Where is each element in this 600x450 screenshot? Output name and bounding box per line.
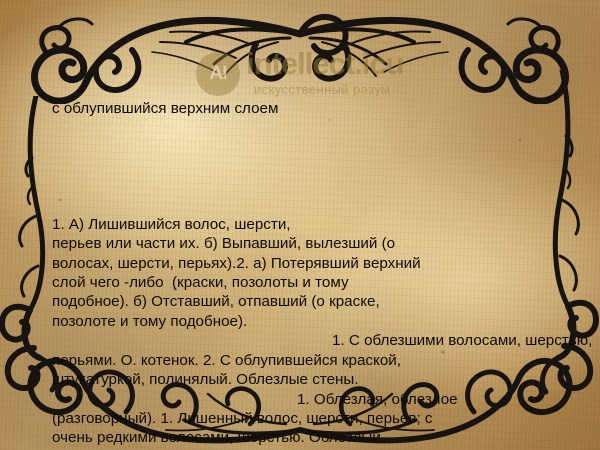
definition-line: (разговорный). 1. Лишенный волос, шерсти… <box>52 409 598 428</box>
definition-line: 1. А) Лишившийся волос, шерсти, <box>52 215 598 234</box>
definition-line: слой чего -либо (краски, позолоты и тому <box>52 273 598 292</box>
definition-line: перьями. О. котенок. 2. С облупившейся к… <box>52 351 598 370</box>
paragraph-gap <box>52 157 598 176</box>
page-title: с облупившийся верхним слоем <box>52 99 598 118</box>
definition-line: штукатуркой, полинялый. Облезлые стены. <box>52 370 598 389</box>
dictionary-text-block: с облупившийся верхним слоем 1. А) Лишив… <box>52 60 598 450</box>
slide-canvas: AI intellect.icu искусственный разум с о… <box>0 0 600 450</box>
definition-lines: 1. А) Лишившийся волос, шерсти,перьев ил… <box>52 215 598 450</box>
definition-line: 1. Облезлая, облезлое <box>52 390 598 409</box>
definition-line: подобное). б) Отставший, отпавший (о кра… <box>52 292 598 311</box>
definition-line: 1. С облезшими волосами, шерстью, <box>52 331 598 350</box>
definition-line: волосах, шерсти, перьях).2. а) Потерявши… <box>52 254 598 273</box>
definition-line: позолоте и тому подобное). <box>52 312 598 331</box>
definition-line: очень редкими волосами, шерстью. Облезлы… <box>52 428 598 447</box>
definition-line: перьев или части их. б) Выпавший, вылезш… <box>52 234 598 253</box>
